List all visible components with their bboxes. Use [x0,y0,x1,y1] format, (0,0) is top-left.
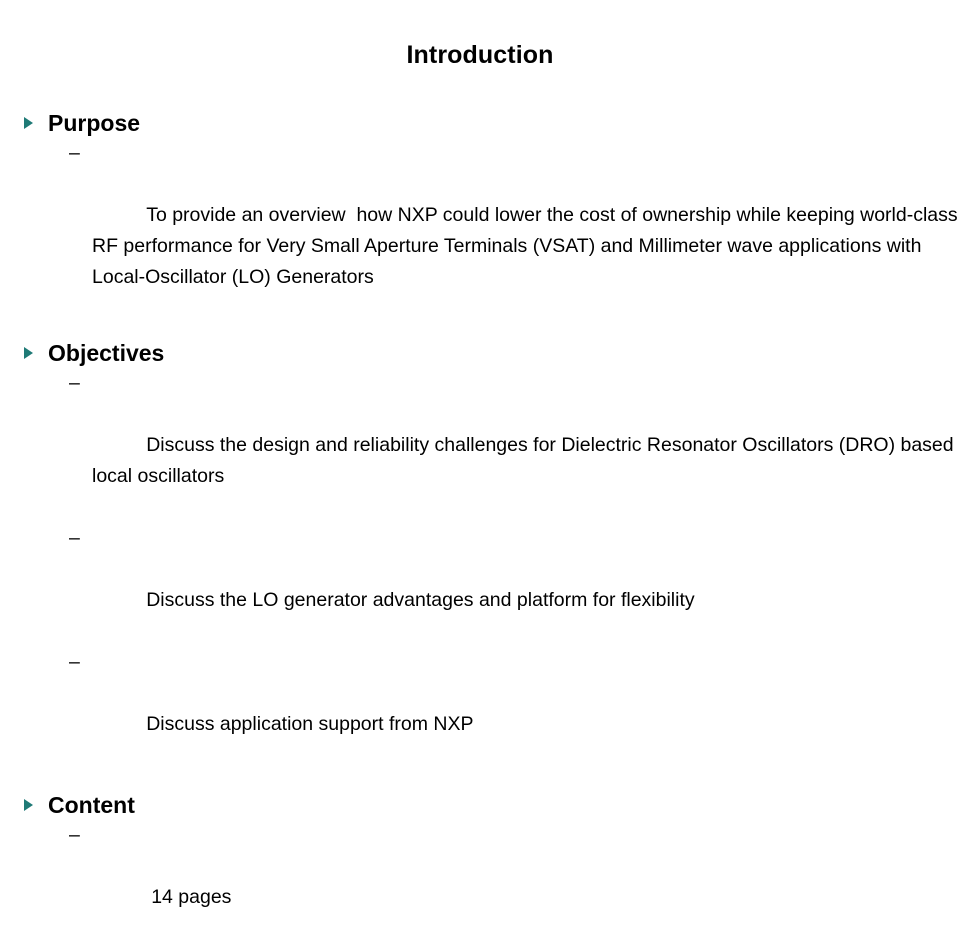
dash-marker-icon: – [69,138,80,169]
list-item-text: 14 pages [151,886,231,908]
section-heading-objectives: Objectives [0,338,960,368]
page-title: Introduction [0,41,960,70]
dash-marker-icon: – [69,368,80,399]
list-item-text: Discuss the design and reliability chall… [92,434,959,487]
sub-list-content: – 14 pages [0,820,960,944]
list-item-text: To provide an overview how NXP could low… [92,204,960,288]
list-item-text: Discuss the LO generator advantages and … [146,589,694,611]
section-objectives: Objectives – Discuss the design and reli… [0,338,960,771]
section-heading-label: Purpose [48,110,140,136]
list-item: – Discuss the LO generator advantages an… [0,523,960,647]
section-heading-content: Content [0,790,960,820]
triangle-bullet-icon [24,799,33,811]
list-item: – Discuss application support from NXP [0,647,960,771]
sub-list-objectives: – Discuss the design and reliability cha… [0,368,960,771]
section-purpose: Purpose – To provide an overview how NXP… [0,108,960,324]
triangle-bullet-icon [24,347,33,359]
slide: Introduction Purpose – To provide an ove… [0,0,960,720]
section-content: Content – 14 pages [0,790,960,944]
list-item: – To provide an overview how NXP could l… [0,138,960,324]
section-heading-label: Content [48,792,135,818]
slide-body: Purpose – To provide an overview how NXP… [0,108,960,944]
section-heading-purpose: Purpose [0,108,960,138]
dash-marker-icon: – [69,820,80,851]
list-item: – Discuss the design and reliability cha… [0,368,960,523]
spacer [0,324,960,338]
list-item-text: Discuss application support from NXP [146,713,473,735]
list-item: – 14 pages [0,820,960,944]
dash-marker-icon: – [69,647,80,678]
sub-list-purpose: – To provide an overview how NXP could l… [0,138,960,324]
triangle-bullet-icon [24,117,33,129]
dash-marker-icon: – [69,523,80,554]
section-heading-label: Objectives [48,340,164,366]
spacer [0,771,960,790]
